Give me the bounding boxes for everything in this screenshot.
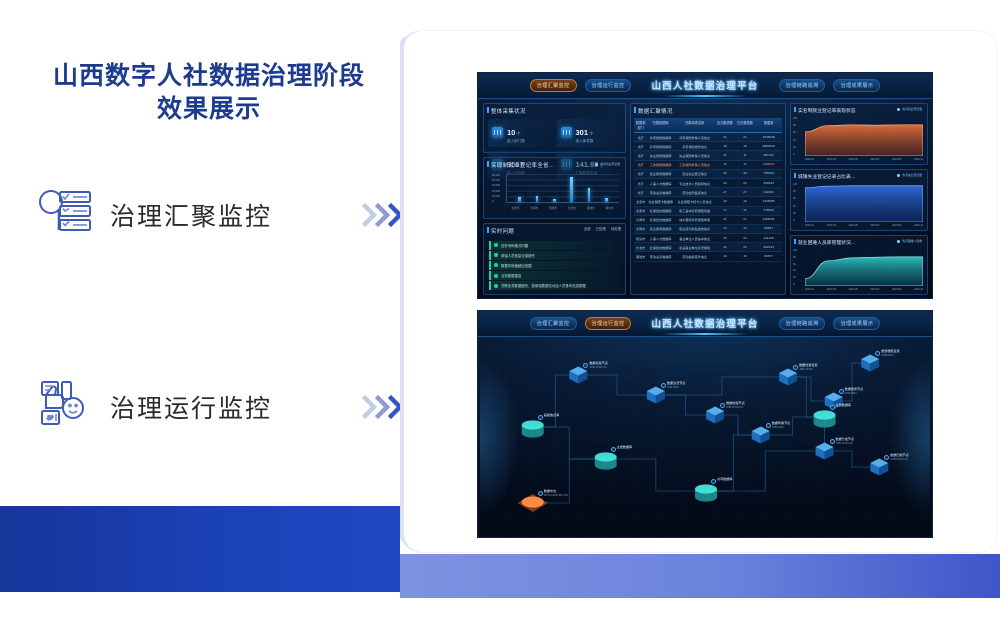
y-tick: 60 [793,263,805,266]
panel-area-chart-1: 实名制就业登记率表现状态 各月就业登记数 100806040200 2023-0… [790,103,928,165]
feature-label-aggregation: 治理汇聚监控 [110,197,272,233]
network-node[interactable] [814,410,836,427]
node-status-icon [661,383,666,388]
checklist-item-text: 数据字段值超出范围 [501,263,532,268]
table-cell: 442181 [755,188,782,196]
status-dot-icon [494,253,498,257]
y-tick: 60 [793,131,805,134]
area-3-x-labels: 2023-012023-032023-052023-072023-092023-… [805,286,923,293]
y-tick: 20 [793,276,805,279]
y-tick: 0 [793,283,805,286]
table-cell: 社保经办数据库 [647,207,674,215]
x-tick: 阳泉市 [549,206,557,210]
table-row[interactable]: 大同市社保经办数据库城乡居民养老保险参保21211193641 [634,216,782,225]
area-chart-1-legend: 各月就业登记数 [897,107,922,111]
thumbs-up-feedback-icon [36,378,96,435]
status-dot-icon [494,263,498,267]
network-node[interactable] [706,406,724,423]
table-cell: 27 [735,188,756,196]
y-tick: 60 [793,197,805,200]
x-tick: 2023-07 [870,158,879,161]
table-cell: 2884530 [755,142,782,150]
x-tick: 朔州市 [606,206,614,210]
checklist-item-text: 证件号码格式问题 [501,243,528,248]
node-name: 质量稽核任务 [881,349,900,354]
status-dot-icon [494,284,498,288]
table-cell: 23 [735,179,756,187]
table-icon [561,127,572,138]
node-code: JOB-87012-07 [726,406,745,410]
checklist-item-text: 参保人员信息记录缺失 [501,253,535,258]
x-tick: 2023-07 [870,288,879,291]
nav-item-1[interactable]: 治理运行监控 [585,317,632,330]
network-topology-diagram[interactable]: 数据采集节点JOB-77810-01数据清洗节点JOB-3302数据校验节点JO… [478,337,932,537]
table-cell: 88257 [755,225,782,233]
table-cell: 765320 [755,170,782,178]
table-cell: 259334 [755,179,782,187]
x-tick: 2023-11 [914,288,923,291]
table-row[interactable]: 省厅就业服务数据库就业失业登记信息4240765320 [634,170,782,179]
header-underline [662,95,748,97]
table-column-header: 归集数据库 [647,118,674,132]
table-cell: 22 [715,243,734,251]
feature-item-aggregation[interactable]: 治理汇聚监控 [0,186,404,243]
y-tick: 0 [793,153,805,156]
x-tick: 2023-05 [849,288,858,291]
table-cell: 就业服务数据库 [647,225,674,233]
network-node-label: 数据归档节点JOB-55213-03 [890,453,909,462]
bar [570,177,573,202]
table-cell: 机关事业单位养老保险 [674,243,715,251]
node-name: 业务数据库 [836,403,851,408]
node-name: 基础信息库 [544,413,559,418]
table-body: 省厅养老保险数据库养老保险参保人员信息21211546348省厅养老保险数据库养… [634,133,782,262]
node-code: JOB-9921 [845,392,864,396]
table-cell: 社会保障卡持卡人员信息 [674,197,715,205]
chevrons-aggregation [365,202,404,228]
bar [553,199,556,202]
legend-label: 各月失业登记数 [902,173,922,177]
table-cell: 23 [715,179,734,187]
network-node[interactable] [779,368,797,385]
table-cell: 晋城市 [634,252,647,260]
nav-item-2[interactable]: 治理链路追溯 [779,79,826,92]
dashboard-header-aggregation: 治理汇聚监控 治理运行监控 山西人社数据治理平台 治理链路追溯 治理成果展示 [478,73,932,99]
x-tick: 2023-11 [914,224,923,227]
network-link [606,459,706,491]
y-tick: 80 [793,190,805,193]
network-node-label: 基础信息库 [544,413,559,418]
bar [518,197,521,202]
checklist-tab[interactable]: 待处理 [611,226,621,231]
table-cell: 社保经办数据库 [647,243,674,251]
table-cell: 失业保险数据库 [647,151,674,159]
panel-bar-chart: 实现制就业登记率全省… 各市就业登记数 80,000 60,000 40,000… [483,157,626,219]
node-name: 数据清洗节点 [667,381,686,386]
table-cell: 19 [735,197,756,205]
x-tick: 2023-05 [849,224,858,227]
network-node-label: 业务数据库 [836,403,851,408]
y-tick: 80,000 [492,174,506,177]
table-cell: 事业单位人员基本信息 [674,234,715,242]
y-tick: 40 [793,205,805,208]
checklist-item[interactable]: 证件号码格式问题 [489,241,620,250]
panel-checklist: 实时问题 全部 已处理 待处理 证件号码格式问题参保人员信息记录缺失数据字段值超… [483,223,626,295]
node-code: JOB-55213-03 [890,458,909,462]
feature-item-runtime[interactable]: 治理运行监控 [0,378,404,435]
x-tick: 2023-01 [805,158,814,161]
table-cell: 11 [735,151,756,159]
table-cell: 劳动关系数据库 [647,188,674,196]
x-tick: 2023-09 [892,288,901,291]
table-cell: 27 [715,188,734,196]
checklist-tab[interactable]: 已处理 [596,226,606,231]
node-name: 数据转换节点 [772,421,791,426]
table-cell: 1196327 [755,161,782,169]
network-node-label: 数据转换节点JOB-1163 [772,421,791,430]
table-cell: 社会保障卡数据库 [647,197,674,205]
table-header-row: 数据源部门归集数据库归集库表名称应归集表数已归集表数数据量 [634,118,782,133]
table-cell: 省厅 [634,142,647,150]
table-cell: 职工基本养老保险待遇 [674,207,715,215]
node-status-icon [711,479,716,484]
table-cell: 24 [735,234,756,242]
table-cell: 省厅 [634,188,647,196]
network-node-label: 质量稽核任务JOB-6650 [881,349,900,358]
bar-y-axis-labels: 80,000 60,000 40,000 20,000 10,000 0 [492,174,506,203]
status-dot-icon [494,243,498,247]
table-cell: 人事人才数据库 [647,234,674,242]
table-cell: 42 [715,170,734,178]
table-cell: 1546348 [755,133,782,141]
table-cell: 131408 [755,234,782,242]
table-cell: 387122 [755,151,782,159]
left-column: 山西数字人社数据治理阶段 效果展示 [0,0,404,631]
table-cell: 602914 [755,243,782,251]
network-node-label: 数据采集节点JOB-77810-01 [589,361,608,370]
checklist-item[interactable]: 数据字段值超出范围 [489,261,620,270]
network-node[interactable] [647,386,665,403]
network-node[interactable] [695,484,717,501]
legend-label: 各月就业登记数 [902,107,922,111]
node-code: JOB-11504-02 [836,442,855,446]
checklist-item-text: 业务数据重复 [501,273,521,278]
dashboard-title: 山西人社数据治理平台 [635,316,774,330]
table-cell: 太原市 [634,197,647,205]
panel-data-table: 数据汇聚情况 数据源部门归集数据库归集库表名称应归集表数已归集表数数据量 省厅养… [630,103,786,295]
table-row[interactable]: 晋城市劳动关系数据库劳动监察案件信息161630677 [634,252,782,261]
table-cell: 25 [715,234,734,242]
panel-overview: 整体采集状况 10个 接入部门数 301个 接入库表数 [483,103,626,153]
x-tick: 太原市 [512,206,520,210]
table-cell: 养老保险数据库 [647,142,674,150]
network-link [788,377,824,417]
bar-chart: 80,000 60,000 40,000 20,000 10,000 0 太原市… [492,174,619,212]
y-tick: 40 [793,269,805,272]
y-tick: 100 [793,183,805,186]
stat-tile: 10个 接入部门数 [488,119,553,147]
table-cell: 城乡居民养老保险参保 [674,216,715,224]
table-cell: 30677 [755,252,782,260]
network-node[interactable] [752,426,770,443]
panel-area-chart-3: 就业困难人员库管理状况… 各月困难人员数 100806040200 2023-0… [790,235,928,295]
network-node[interactable] [595,452,617,469]
y-tick: 0 [793,219,805,222]
node-name: 共享数据库 [717,477,732,482]
table-row[interactable]: 省厅人事人才数据库专业技术人员职称信息2323259334 [634,179,782,188]
node-status-icon [538,491,543,496]
x-tick: 2023-05 [849,158,858,161]
y-tick: 80 [793,256,805,259]
table-row[interactable]: 省厅劳动关系数据库劳动合同备案信息2727442181 [634,188,782,197]
y-tick: 20,000 [492,190,506,193]
table-cell: 大同市 [634,225,647,233]
table-cell: 省厅 [634,161,647,169]
table-cell: 778034 [755,207,782,215]
x-tick: 2023-09 [892,224,901,227]
network-node-label: 数据清洗节点JOB-3302 [667,381,686,390]
table-row[interactable]: 阳泉市人事人才数据库事业单位人员基本信息2524131408 [634,234,782,243]
network-node[interactable] [522,420,544,437]
x-tick: 2023-03 [827,288,836,291]
node-name: 数据采集节点 [589,361,608,366]
network-node-label: 数据加载任务JOB-24210 [799,363,818,372]
table-cell: 劳动合同备案信息 [674,188,715,196]
table-cell: 就业失业登记信息 [674,170,715,178]
page-title-line2: 效果展示 [34,93,384,126]
network-node-label: 数据中台DATA-CENTER-001 [544,489,568,498]
nav-item-0[interactable]: 治理汇聚监控 [530,79,577,92]
table-cell: 养老保险参保人员信息 [674,133,715,141]
table-row[interactable]: 省厅养老保险数据库养老保险参保人员信息21211546348 [634,133,782,142]
node-status-icon [538,415,543,420]
chevrons-runtime [365,394,404,420]
x-tick: 晋城市 [587,206,595,210]
y-tick: 20 [793,212,805,215]
stat-unit: 个 [516,131,520,136]
table-cell: 13 [715,225,734,233]
checklist-tabs[interactable]: 全部 已处理 待处理 [584,226,621,231]
network-node[interactable] [816,442,834,459]
page-title-line1: 山西数字人社数据治理阶段 [53,62,365,90]
checklist-item[interactable]: 关联业务数据缺失，如参保数据无对应人员基本信息数据 [489,281,620,290]
area-1-x-labels: 2023-012023-032023-052023-072023-092023-… [805,156,923,163]
checklist-item[interactable]: 参保人员信息记录缺失 [489,251,620,260]
bar [536,196,539,202]
table-cell: 15 [715,161,734,169]
dashboard-bg: 治理汇聚监控 治理运行监控 山西人社数据治理平台 治理链路追溯 治理成果展示 整… [478,73,932,298]
table-cell: 21 [715,133,734,141]
table-cell: 15 [735,161,756,169]
table-cell: 养老保险缴费信息 [674,142,715,150]
network-node[interactable] [861,354,879,371]
y-tick: 40,000 [492,184,506,187]
area-chart-3-legend: 各月困难人员数 [897,239,922,243]
network-link [578,375,656,395]
table-cell: 就业服务数据库 [647,170,674,178]
network-node[interactable] [870,458,888,475]
table-column-header: 归集库表名称 [674,118,715,132]
node-status-icon [766,423,771,428]
table-cell: 13 [735,225,756,233]
table-cell: 省厅 [634,179,647,187]
table-cell: 省厅 [634,133,647,141]
magnifier-document-icon [36,186,96,243]
dashboard-screenshot-aggregation[interactable]: 治理汇聚监控 治理运行监控 山西人社数据治理平台 治理链路追溯 治理成果展示 整… [477,72,933,299]
checklist-tab[interactable]: 全部 [584,226,591,231]
table-row[interactable]: 太原市社保经办数据库职工基本养老保险待遇1716778034 [634,207,782,216]
node-code: JOB-24210 [799,368,818,372]
area-chart-2-legend: 各月失业登记数 [897,173,922,177]
node-status-icon [830,405,835,410]
table-cell: 21 [735,133,756,141]
stat-value: 301 [576,128,589,137]
node-name: 数据服务节点 [845,387,864,392]
stat-label: 接入库表数 [576,140,594,144]
feature-label-runtime: 治理运行监控 [110,389,272,425]
node-name: 数据校验节点 [726,401,745,406]
stat-value: 10 [507,128,515,137]
network-node-label: 数据校验节点JOB-87012-07 [726,401,745,410]
table-cell: 职业培训补贴发放信息 [674,225,715,233]
area-3-y-labels: 100806040200 [793,249,805,286]
network-node-label: 共享数据库 [717,477,732,482]
node-code: JOB-6650 [881,354,900,358]
table-cell: 40 [735,170,756,178]
table-cell: 16 [735,252,756,260]
data-table[interactable]: 数据源部门归集数据库归集库表名称应归集表数已归集表数数据量 省厅养老保险数据库养… [634,118,782,291]
page-title: 山西数字人社数据治理阶段 效果展示 [34,60,384,126]
area-2-y-labels: 100806040200 [793,183,805,222]
table-cell: 养老保险数据库 [647,133,674,141]
table-cell: 工伤保险数据库 [647,161,674,169]
node-name: 数据分发节点 [836,437,855,442]
bar-series [507,174,619,202]
table-cell: 失业保险参保人员信息 [674,151,715,159]
table-row[interactable]: 长治市社保经办数据库机关事业单位养老保险2222602914 [634,243,782,252]
table-row[interactable]: 太原市社会保障卡数据库社会保障卡持卡人员信息19193108485 [634,197,782,206]
nav-item-3[interactable]: 治理成果展示 [833,317,880,330]
bar-legend-label: 各市就业登记数 [600,162,620,166]
node-name: 数据加载任务 [799,363,818,368]
network-nodes [478,337,933,537]
x-tick: 2023-11 [914,158,923,161]
status-dot-icon [494,274,498,278]
table-cell: 16 [735,207,756,215]
bar [605,198,608,202]
table-cell: 22 [735,243,756,251]
network-node-label: 数据分发节点JOB-11504-02 [836,437,855,446]
nav-item-3[interactable]: 治理成果展示 [833,79,880,92]
table-cell: 11 [715,151,734,159]
dashboard-screenshot-runtime[interactable]: 治理汇聚监控 治理运行监控 山西人社数据治理平台 治理链路追溯 治理成果展示 数… [477,310,933,538]
table-column-header: 数据量 [755,118,782,132]
table-cell: 工伤保险参保人员信息 [674,161,715,169]
x-tick: 2023-09 [892,158,901,161]
table-row[interactable]: 省厅失业保险数据库失业保险参保人员信息1111387122 [634,151,782,160]
panel-area-chart-2: 城镇失业登记记录占比表… 各月失业登记数 100806040200 2023-0… [790,169,928,231]
table-cell: 专业技术人员职称信息 [674,179,715,187]
nav-item-2[interactable]: 治理链路追溯 [779,317,826,330]
y-tick: 100 [793,117,805,120]
table-column-header: 数据源部门 [634,118,647,132]
checklist-item[interactable]: 业务数据重复 [489,271,620,280]
bar-x-axis-labels: 太原市大同市阳泉市长治市晋城市朔州市 [506,204,619,212]
y-tick: 20 [793,146,805,149]
table-cell: 人事人才数据库 [647,179,674,187]
table-cell: 省厅 [634,170,647,178]
area-2-x-labels: 2023-012023-032023-052023-072023-092023-… [805,222,923,229]
node-code: JOB-77810-01 [589,366,608,370]
table-cell: 18 [735,142,756,150]
panel-table-header: 数据汇聚情况 [631,104,785,117]
node-status-icon [611,447,616,452]
y-tick: 10,000 [492,195,506,198]
node-code: DATA-CENTER-001 [544,494,568,498]
x-tick: 大同市 [530,206,538,210]
table-cell: 长治市 [634,243,647,251]
table-column-header: 应归集表数 [715,118,734,132]
y-tick: 80 [793,124,805,127]
node-status-icon [830,439,835,444]
table-row[interactable]: 省厅工伤保险数据库工伤保险参保人员信息15151196327 [634,161,782,170]
network-node[interactable] [569,366,587,383]
table-cell: 劳动监察案件信息 [674,252,715,260]
table-cell: 阳泉市 [634,234,647,242]
table-cell: 21 [735,216,756,224]
x-tick: 2023-03 [827,224,836,227]
table-row[interactable]: 大同市就业服务数据库职业培训补贴发放信息131388257 [634,225,782,234]
x-tick: 2023-01 [805,288,814,291]
table-cell: 19 [715,197,734,205]
table-cell: 社保经办数据库 [647,216,674,224]
node-name: 数据归档节点 [890,453,909,458]
node-code: JOB-1163 [772,426,791,430]
y-tick: 0 [492,200,506,203]
y-tick: 40 [793,139,805,142]
checklist-items: 证件号码格式问题参保人员信息记录缺失数据字段值超出范围业务数据重复关联业务数据缺… [489,240,620,291]
nav-item-1[interactable]: 治理运行监控 [585,79,632,92]
area-1-y-labels: 100806040200 [793,117,805,156]
node-name: 主题数据库 [617,445,632,450]
checklist-item-text: 关联业务数据缺失，如参保数据无对应人员基本信息数据 [501,283,586,288]
node-status-icon [839,389,844,394]
table-cell: 劳动关系数据库 [647,252,674,260]
table-cell: 大同市 [634,216,647,224]
bar-plot-area [506,174,619,203]
node-code: JOB-3302 [667,386,686,390]
table-cell: 17 [715,207,734,215]
stat-tile: 301个 接入库表数 [557,119,622,147]
stat-unit: 个 [589,131,593,136]
stat-label: 接入部门数 [507,140,525,144]
table-cell: 太原市 [634,207,647,215]
dashboard-header-runtime: 治理汇聚监控 治理运行监控 山西人社数据治理平台 治理链路追溯 治理成果展示 [478,311,932,337]
x-tick: 2023-01 [805,224,814,227]
x-tick: 2023-07 [870,224,879,227]
table-cell: 3108485 [755,197,782,205]
area-1-plot [805,117,923,156]
legend-label: 各月困难人员数 [902,239,922,243]
y-tick: 60,000 [492,179,506,182]
network-node-label: 主题数据库 [617,445,632,450]
table-row[interactable]: 省厅养老保险数据库养老保险缴费信息18182884530 [634,142,782,151]
table-cell: 16 [715,252,734,260]
nav-item-0[interactable]: 治理汇聚监控 [530,317,577,330]
bar [588,188,591,202]
department-icon [492,127,503,138]
table-cell: 省厅 [634,151,647,159]
